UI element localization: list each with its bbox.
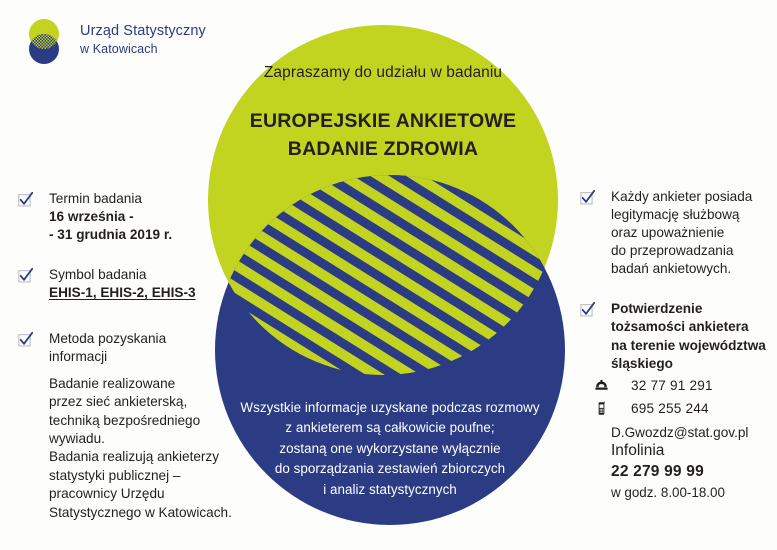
method-paragraph-line-3: techniką bezpośredniego xyxy=(49,412,233,430)
block-line-5: badań ankietowych. xyxy=(611,260,772,278)
block-heading-line-2: informacji xyxy=(49,348,233,366)
block-heading-line-1: Metoda pozyskania xyxy=(49,330,233,348)
block-line-2: tożsamości ankietera xyxy=(611,318,772,336)
block-line-4: śląskiego xyxy=(611,355,772,373)
info-block-interviewer-credentials: Każdy ankieter posiada legitymację służb… xyxy=(580,188,772,278)
method-paragraph: Badanie realizowane przez sieć ankieters… xyxy=(18,375,233,523)
check-row: Symbol badania EHIS-1, EHIS-2, EHIS-3 xyxy=(18,266,233,302)
left-info-column: Termin badania 16 września - - 31 grudni… xyxy=(18,190,233,522)
check-row: Każdy ankieter posiada legitymację służb… xyxy=(580,188,772,278)
check-row: Termin badania 16 września - - 31 grudni… xyxy=(18,190,233,244)
info-block-survey-period: Termin badania 16 września - - 31 grudni… xyxy=(18,190,233,244)
block-line-3: na terenie województwa xyxy=(611,337,772,355)
invite-text: Zapraszamy do udziału w badaniu xyxy=(208,64,558,82)
confidentiality-note-line-4: do sporządzania zestawień zbiorczych xyxy=(225,459,555,479)
info-block-method: Metoda pozyskania informacji Badanie rea… xyxy=(18,330,233,522)
telephone-icon xyxy=(594,377,609,394)
landline-number[interactable]: 32 77 91 291 xyxy=(611,376,713,396)
block-line-2: - 31 grudnia 2019 r. xyxy=(49,226,233,244)
method-paragraph-line-4: wywiadu. xyxy=(49,430,233,448)
method-paragraph-line-2: przez sieć ankieterską, xyxy=(49,393,233,411)
checkbox-checked-icon xyxy=(18,268,33,283)
infolinia-label: Infolinia xyxy=(611,440,776,461)
block-line-3: oraz upoważnienie xyxy=(611,224,772,242)
contact-landline: 32 77 91 291 xyxy=(580,376,772,396)
method-paragraph-line-1: Badanie realizowane xyxy=(49,375,233,393)
confidentiality-note-line-1: Wszystkie informacje uzyskane podczas ro… xyxy=(225,398,555,418)
infolinia-block: Infolinia 22 279 99 99 w godz. 8.00-18.0… xyxy=(611,440,776,503)
mobile-number[interactable]: 695 255 244 xyxy=(611,399,709,419)
block-heading: Termin badania xyxy=(49,190,233,208)
method-paragraph-line-7: pracownicy Urzędu xyxy=(49,485,233,503)
info-block-survey-symbol: Symbol badania EHIS-1, EHIS-2, EHIS-3 xyxy=(18,266,233,302)
confidentiality-note: Wszystkie informacje uzyskane podczas ro… xyxy=(225,398,555,500)
method-paragraph-line-6: statystyki publicznej – xyxy=(49,467,233,485)
checkbox-checked-icon xyxy=(580,302,595,317)
method-paragraph-line-8: Statystycznego w Katowicach. xyxy=(49,504,233,522)
check-row: Metoda pozyskania informacji xyxy=(18,330,233,366)
block-line-1: 16 września - xyxy=(49,208,233,226)
infolinia-number[interactable]: 22 279 99 99 xyxy=(611,461,776,482)
contact-mobile: 695 255 244 xyxy=(580,399,772,419)
page-title: EUROPEJSKIE ANKIETOWE BADANIE ZDROWIA xyxy=(198,108,568,163)
infolinia-hours: w godz. 8.00-18.00 xyxy=(611,483,776,503)
block-line-2: legitymację służbową xyxy=(611,206,772,224)
block-line-4: do przeprowadzania xyxy=(611,242,772,260)
checkbox-checked-icon xyxy=(18,332,33,347)
right-info-column: Każdy ankieter posiada legitymację służb… xyxy=(580,188,772,444)
method-paragraph-line-5: Badania realizują ankieterzy xyxy=(49,448,233,466)
block-line-1: EHIS-1, EHIS-2, EHIS-3 xyxy=(49,284,233,302)
confidentiality-note-line-3: zostaną one wykorzystane wyłącznie xyxy=(225,439,555,459)
block-line-1: Potwierdzenie xyxy=(611,300,772,318)
block-line-1: Każdy ankieter posiada xyxy=(611,188,772,206)
checkbox-checked-icon xyxy=(580,190,595,205)
checkbox-checked-icon xyxy=(18,192,33,207)
block-heading: Symbol badania xyxy=(49,266,233,284)
page-title-line-2: BADANIE ZDROWIA xyxy=(198,136,568,164)
check-row: Potwierdzenie tożsamości ankietera na te… xyxy=(580,300,772,372)
poster-canvas: Urząd Statystyczny w Katowicach Zaprasza… xyxy=(0,0,777,550)
info-block-identity-confirmation: Potwierdzenie tożsamości ankietera na te… xyxy=(580,300,772,443)
page-title-line-1: EUROPEJSKIE ANKIETOWE xyxy=(198,108,568,136)
confidentiality-note-line-5: i analiz statystycznych xyxy=(225,480,555,500)
confidentiality-note-line-2: z ankieterem są całkowicie poufne; xyxy=(225,418,555,438)
mobile-phone-icon xyxy=(594,400,609,417)
